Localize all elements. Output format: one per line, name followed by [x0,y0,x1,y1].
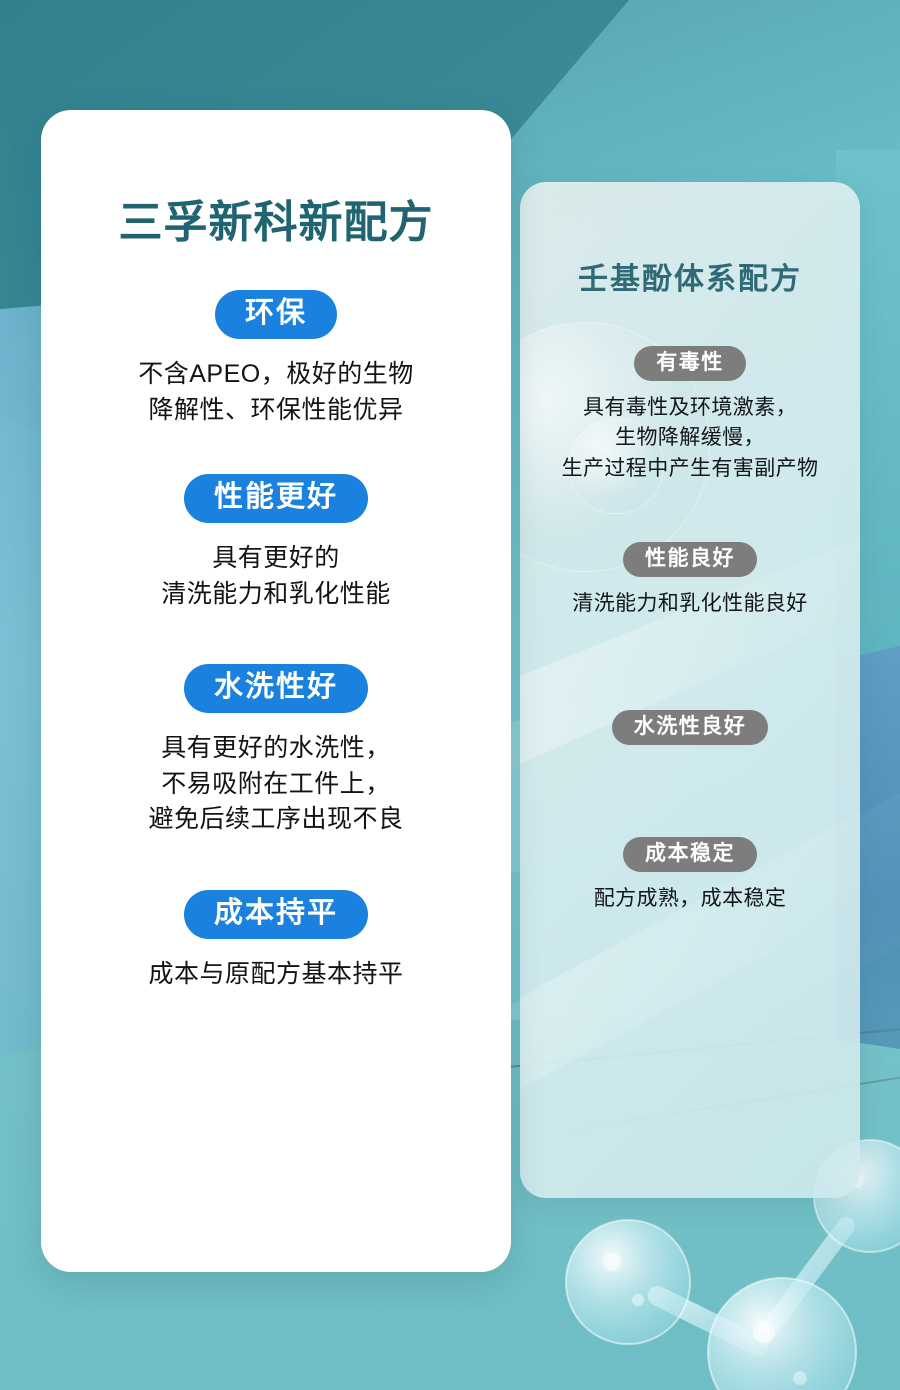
old-formula-desc-toxicity: 具有毒性及环境激素， 生物降解缓慢， 生产过程中产生有害副产物 [520,393,860,484]
new-formula-block-rinsability: 水洗性好 具有更好的水洗性， 不易吸附在工件上， 避免后续工序出现不良 [41,664,511,838]
new-formula-badge-cost[interactable]: 成本持平 [184,890,368,939]
new-formula-badge-eco[interactable]: 环保 [215,290,337,339]
new-formula-card: 三孚新科新配方 环保 不含APEO，极好的生物 降解性、环保性能优异 性能更好 … [41,110,511,1272]
old-formula-desc-performance: 清洗能力和乳化性能良好 [520,589,860,619]
old-formula-badge-rinsability[interactable]: 水洗性良好 [612,710,769,745]
old-formula-desc-cost: 配方成熟，成本稳定 [520,884,860,914]
old-formula-panel: 壬基酚体系配方 有毒性 具有毒性及环境激素， 生物降解缓慢， 生产过程中产生有害… [520,182,860,1198]
old-formula-block-performance: 性能良好 清洗能力和乳化性能良好 [520,542,860,619]
new-formula-desc-eco: 不含APEO，极好的生物 降解性、环保性能优异 [41,357,511,428]
new-formula-badge-performance[interactable]: 性能更好 [184,474,368,523]
old-formula-block-rinsability: 水洗性良好 [520,710,860,745]
old-formula-title: 壬基酚体系配方 [520,254,860,298]
old-formula-block-cost: 成本稳定 配方成熟，成本稳定 [520,837,860,914]
old-formula-badge-performance[interactable]: 性能良好 [623,542,757,577]
new-formula-block-eco: 环保 不含APEO，极好的生物 降解性、环保性能优异 [41,290,511,428]
old-formula-block-toxicity: 有毒性 具有毒性及环境激素， 生物降解缓慢， 生产过程中产生有害副产物 [520,346,860,484]
new-formula-block-cost: 成本持平 成本与原配方基本持平 [41,890,511,993]
new-formula-desc-rinsability: 具有更好的水洗性， 不易吸附在工件上， 避免后续工序出现不良 [41,731,511,838]
new-formula-block-performance: 性能更好 具有更好的 清洗能力和乳化性能 [41,474,511,612]
new-formula-badge-rinsability[interactable]: 水洗性好 [184,664,368,713]
old-formula-badge-cost[interactable]: 成本稳定 [623,837,757,872]
new-formula-desc-performance: 具有更好的 清洗能力和乳化性能 [41,541,511,612]
new-formula-desc-cost: 成本与原配方基本持平 [41,957,511,993]
new-formula-title: 三孚新科新配方 [41,186,511,250]
old-formula-badge-toxicity[interactable]: 有毒性 [634,346,746,381]
